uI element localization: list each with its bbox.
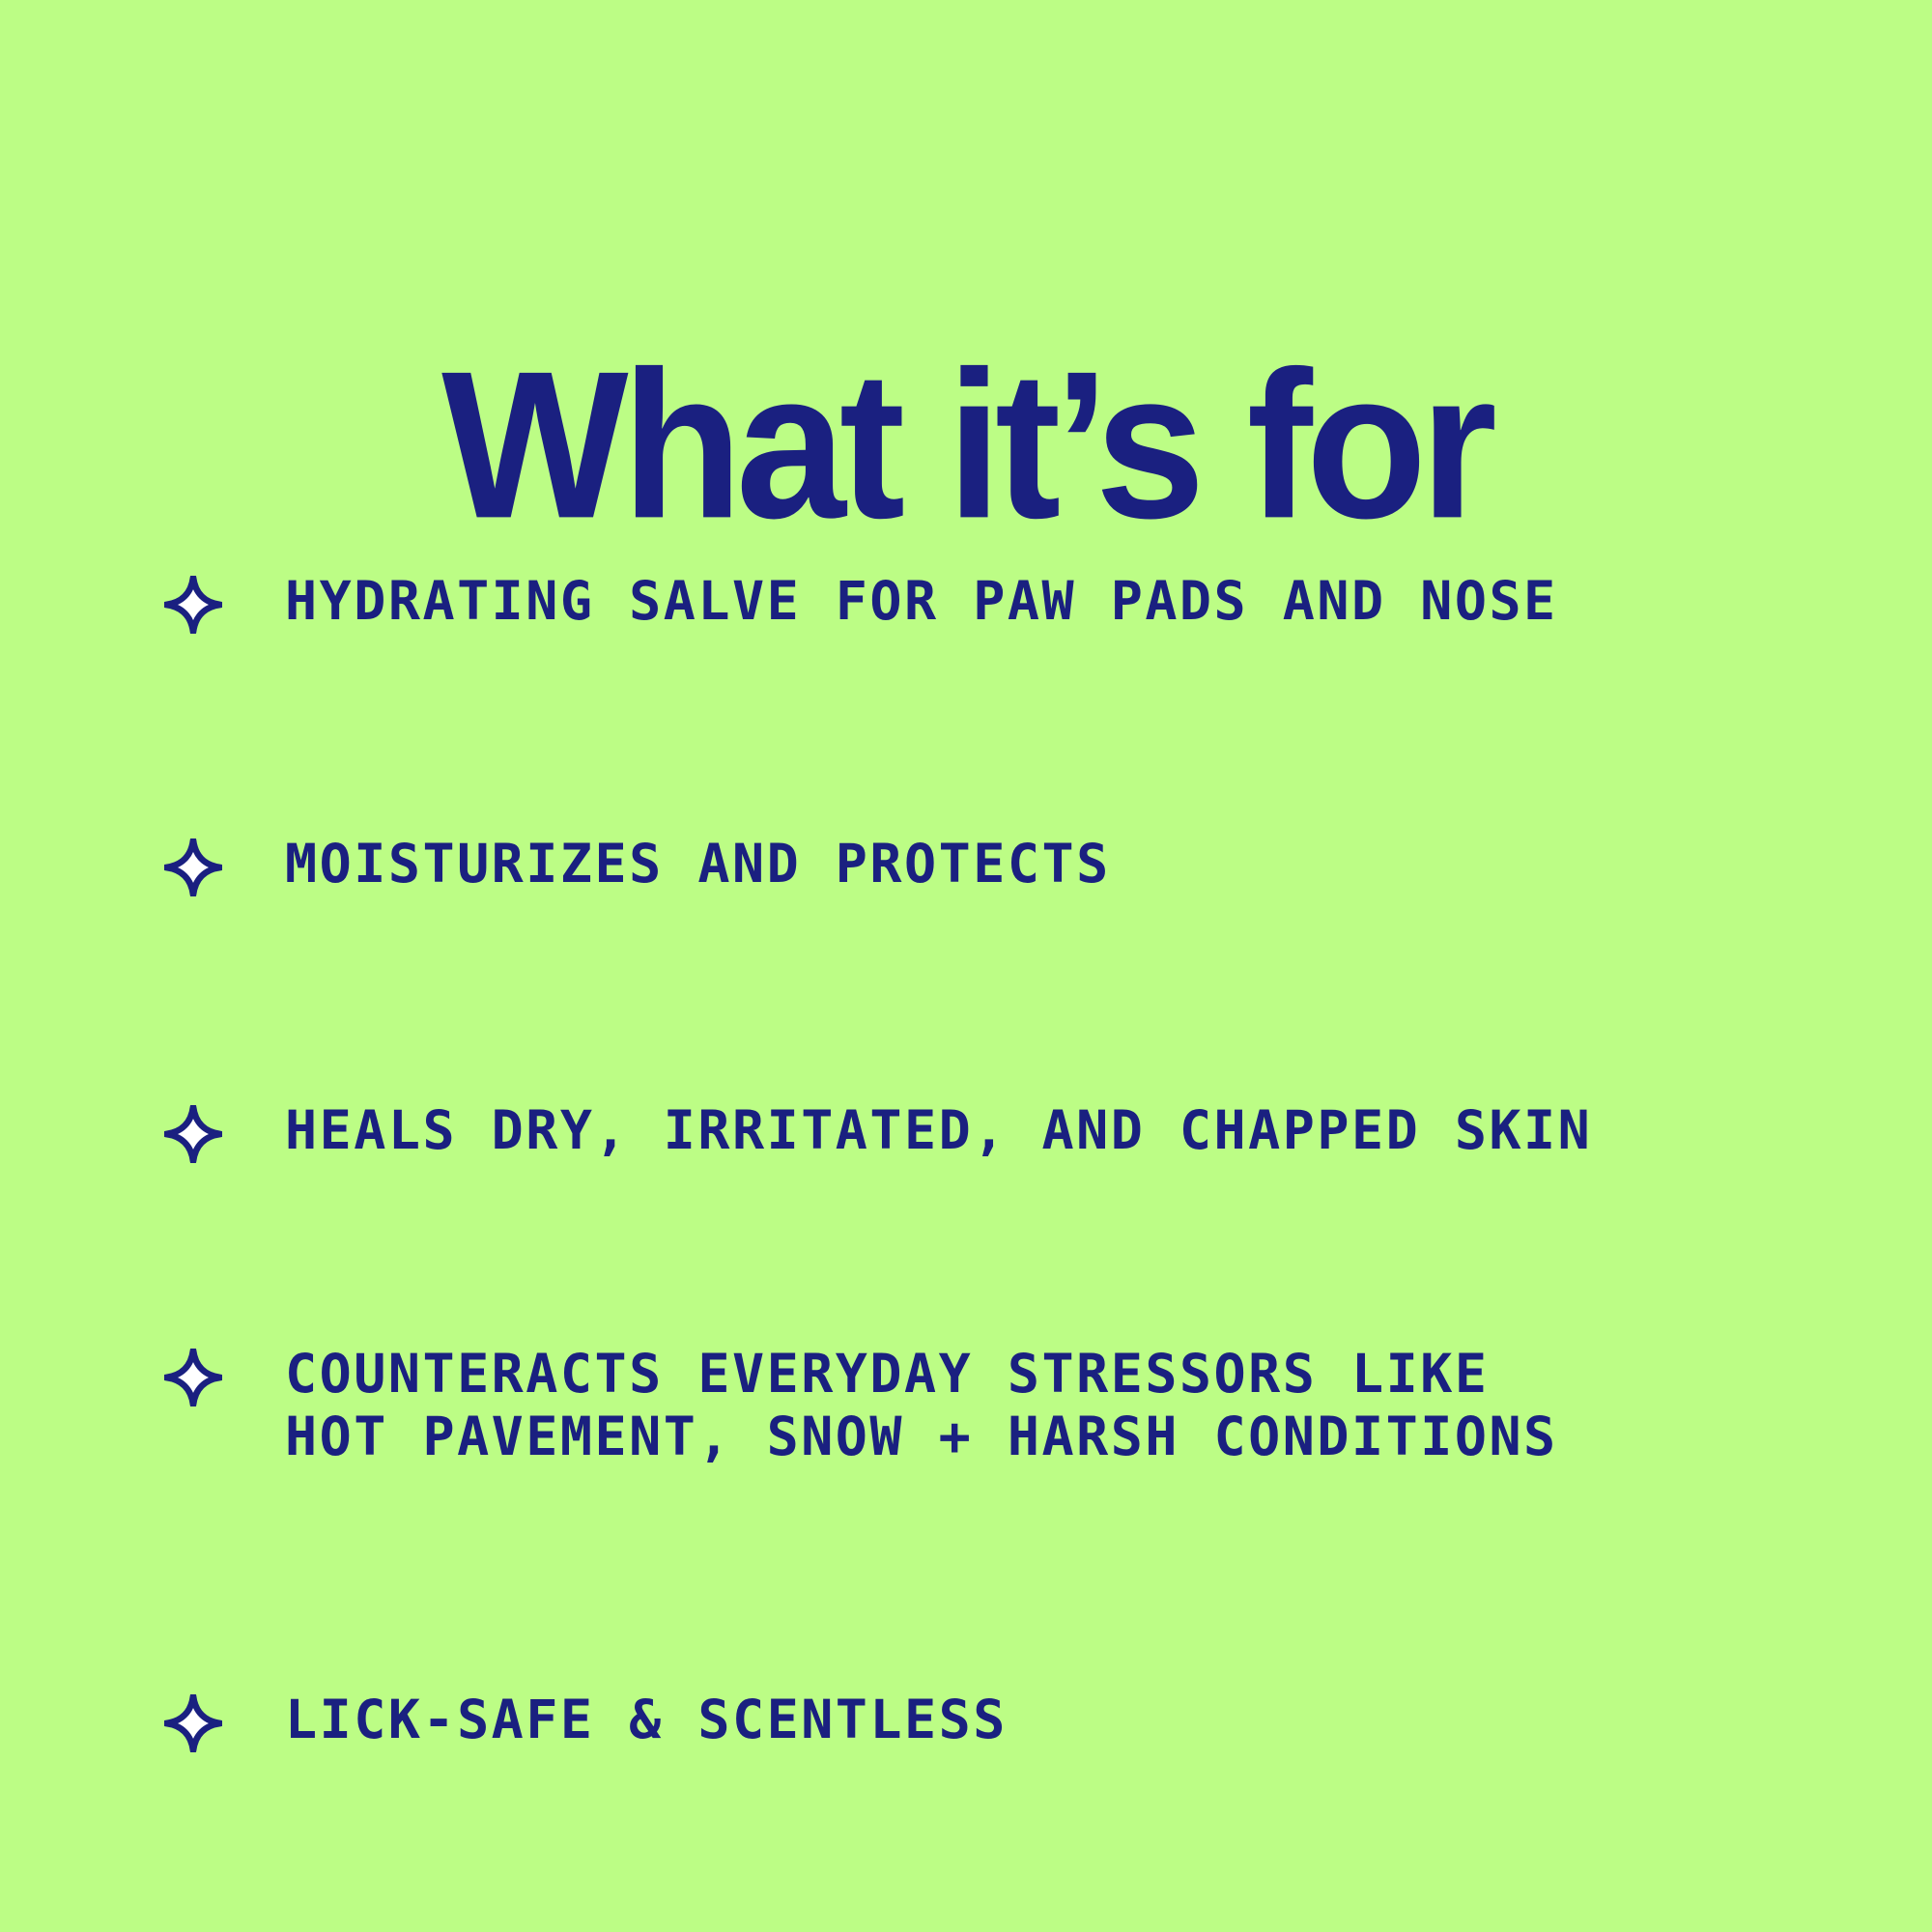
list-item: LICK-SAFE & SCENTLESS [164,1689,1806,1785]
list-item-label: HEALS DRY, IRRITATED, AND CHAPPED SKIN [285,1099,1806,1162]
list-item: HEALS DRY, IRRITATED, AND CHAPPED SKIN [164,1099,1806,1196]
list-item: HYDRATING SALVE FOR PAW PADS AND NOSE [164,570,1806,667]
sparkle-icon [164,570,285,634]
list-item-label: MOISTURIZES AND PROTECTS [285,833,1806,895]
list-item: COUNTERACTS EVERYDAY STRESSORS LIKE HOT … [164,1343,1806,1468]
list-item-label: COUNTERACTS EVERYDAY STRESSORS LIKE HOT … [285,1343,1806,1468]
sparkle-icon [164,1343,285,1406]
sparkle-icon [164,1689,285,1752]
benefits-list: HYDRATING SALVE FOR PAW PADS AND NOSE MO… [164,570,1806,1785]
page-title: What it’s for [441,340,1491,550]
sparkle-icon [164,833,285,896]
sparkle-icon [164,1099,285,1163]
list-item-label: LICK-SAFE & SCENTLESS [285,1689,1806,1751]
list-item: MOISTURIZES AND PROTECTS [164,833,1806,929]
product-benefits-card: What it’s for HYDRATING SALVE FOR PAW PA… [0,0,1932,1932]
list-item-label: HYDRATING SALVE FOR PAW PADS AND NOSE [285,570,1806,633]
